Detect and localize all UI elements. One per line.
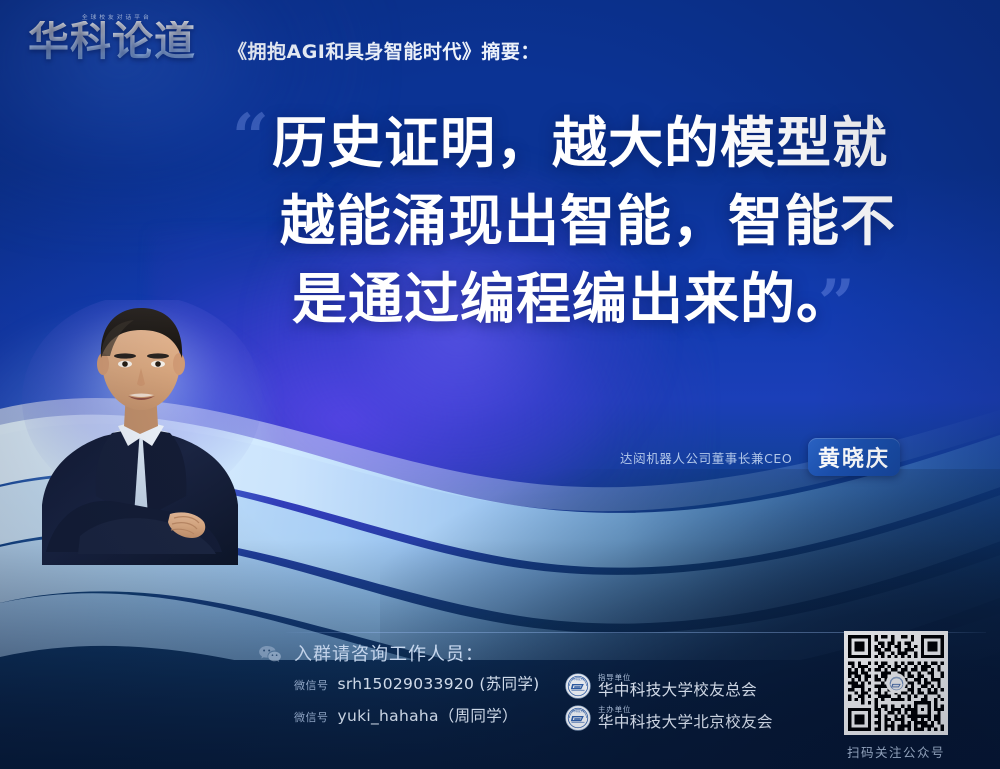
quote-open-mark: “ — [232, 106, 269, 170]
qr-center-logo — [886, 673, 906, 693]
page-title: 《拥抱AGI和具身智能时代》摘要： — [228, 37, 540, 70]
university-seal-icon: 华中科技大学 — [565, 705, 591, 731]
brand-logo-text: 华科论道 — [28, 21, 196, 62]
speaker-attribution: 达闼机器人公司董事长兼CEO — [620, 448, 792, 467]
contact-heading: 入群请咨询工作人员： — [258, 640, 818, 666]
wechat-icon — [258, 645, 282, 662]
organizations-section: 华中科技大学 指导单位 华中科技大学校友总会 华中科技大学 — [565, 672, 773, 736]
quote-close-mark: ” — [818, 272, 855, 336]
qr-caption: 扫码关注公众号 — [838, 742, 954, 761]
qr-section: 扫码关注公众号 — [838, 631, 954, 761]
speaker-portrait — [22, 300, 272, 565]
university-seal-icon: 华中科技大学 — [565, 673, 591, 699]
organization-item: 华中科技大学 主办单位 华中科技大学北京校友会 — [565, 704, 773, 732]
organization-kind: 主办单位 — [598, 706, 773, 714]
wechat-id-value: srh15029033920 (苏同学) — [338, 672, 540, 694]
organization-kind: 指导单位 — [598, 674, 757, 682]
poster-canvas: 全球校友对话平台 华科论道 《拥抱AGI和具身智能时代》摘要： “ 历史证明，越… — [0, 0, 1000, 769]
speaker-name-badge: 黄晓庆 — [808, 438, 900, 476]
contact-title: 入群请咨询工作人员： — [294, 640, 484, 666]
organization-name: 华中科技大学校友总会 — [598, 683, 757, 699]
wechat-id-value: yuki_hahaha（周同学） — [338, 704, 518, 726]
wechat-label: 微信号 — [294, 709, 329, 725]
qr-code[interactable] — [844, 631, 948, 735]
quote-line-1: 历史证明，越大的模型就 — [272, 104, 952, 182]
organization-name: 华中科技大学北京校友会 — [598, 715, 773, 731]
speaker-role: 达闼机器人公司董事长兼CEO — [620, 448, 792, 467]
svg-text:华中科技大学: 华中科技大学 — [571, 677, 585, 681]
svg-text:华中科技大学: 华中科技大学 — [571, 709, 585, 713]
brand-logo[interactable]: 全球校友对话平台 华科论道 — [28, 12, 214, 70]
quote-line-2: 越能涌现出智能，智能不 — [272, 182, 952, 260]
speaker-name: 黄晓庆 — [818, 441, 890, 473]
wechat-label: 微信号 — [294, 677, 329, 693]
organization-item: 华中科技大学 指导单位 华中科技大学校友总会 — [565, 672, 773, 700]
poster-header: 全球校友对话平台 华科论道 《拥抱AGI和具身智能时代》摘要： — [28, 12, 540, 70]
